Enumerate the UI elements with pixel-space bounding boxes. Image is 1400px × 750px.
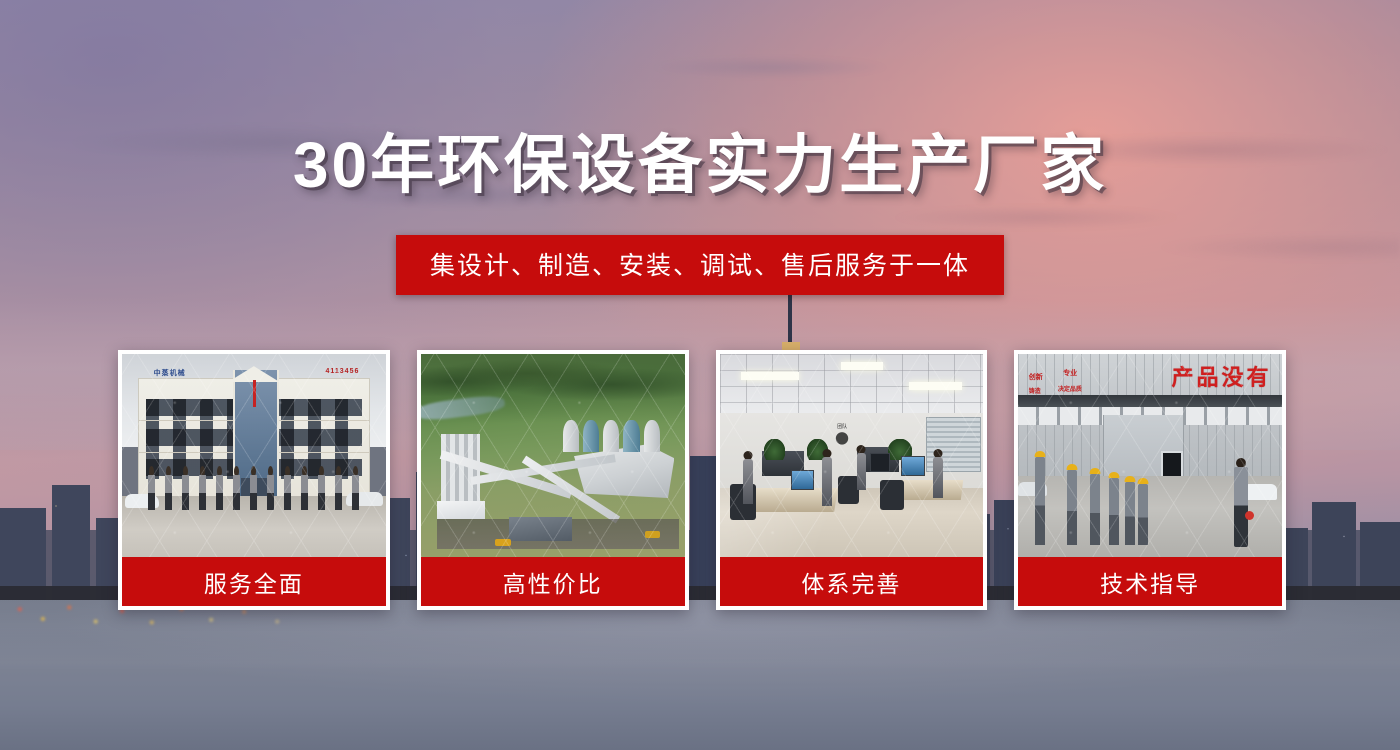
subtitle-banner: 集设计、制造、安装、调试、售后服务于一体	[396, 235, 1004, 295]
building-sign-name: 中蒸机械	[154, 368, 186, 378]
instructor-figure	[1234, 458, 1248, 547]
feature-card-service[interactable]: 中蒸机械 4113456 服务全面	[118, 350, 390, 610]
factory-slogan-1: 创新	[1029, 372, 1043, 382]
photo-plant-aerial	[421, 354, 685, 557]
staff-lineup	[148, 466, 359, 511]
factory-slogan-main: 产品没有	[1171, 360, 1271, 392]
card-label-system: 体系完善	[720, 557, 984, 606]
building-sign-phone: 4113456	[326, 368, 360, 375]
photo-factory-workers: 产品没有 创新 铸造 专业 决定品质	[1018, 354, 1282, 557]
card-label-value: 高性价比	[421, 557, 685, 606]
page-title: 30年环保设备实力生产厂家	[0, 133, 1400, 197]
photo-office-building: 中蒸机械 4113456	[122, 354, 386, 557]
feature-card-row: 中蒸机械 4113456 服务全面	[118, 350, 1286, 610]
card-label-service: 服务全面	[122, 557, 386, 606]
wall-decal: 团队	[825, 423, 859, 451]
feature-card-training[interactable]: 产品没有 创新 铸造 专业 决定品质	[1014, 350, 1286, 610]
subtitle-banner-wrap: 集设计、制造、安装、调试、售后服务于一体	[0, 235, 1400, 295]
factory-slogan-4: 决定品质	[1058, 384, 1082, 393]
feature-card-system[interactable]: 团队	[716, 350, 988, 610]
photo-office-interior: 团队	[720, 354, 984, 557]
factory-slogan-3: 专业	[1063, 368, 1077, 378]
hero-banner: 30年环保设备实力生产厂家 集设计、制造、安装、调试、售后服务于一体 中蒸机械	[0, 0, 1400, 750]
card-label-training: 技术指导	[1018, 557, 1282, 606]
feature-card-value[interactable]: 高性价比	[417, 350, 689, 610]
